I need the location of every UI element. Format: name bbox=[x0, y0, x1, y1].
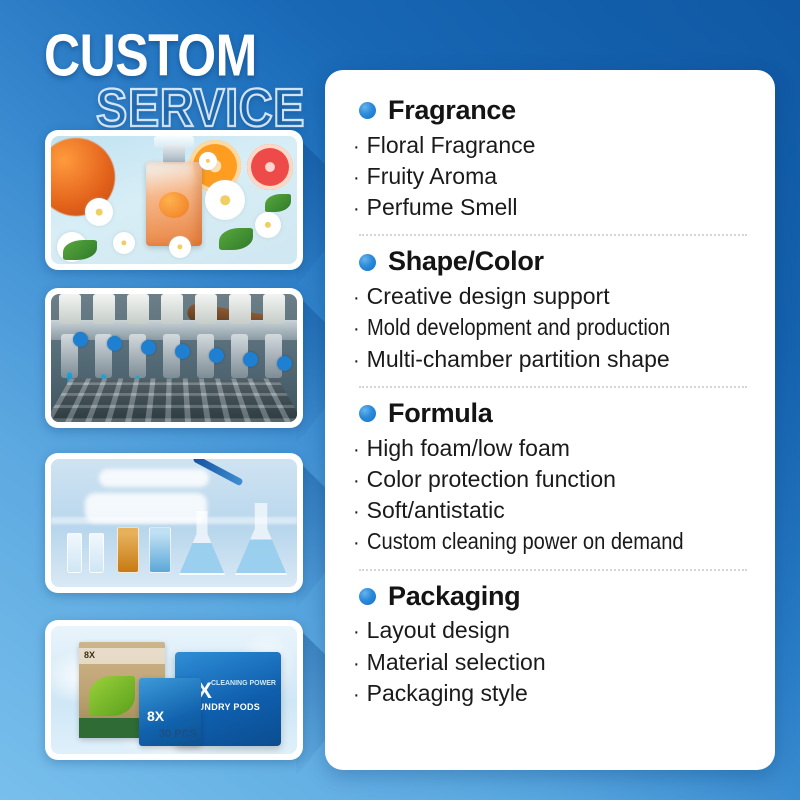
nozzle-indicator-icon bbox=[277, 356, 292, 371]
canister-icon bbox=[127, 294, 149, 324]
vial-icon bbox=[67, 533, 82, 573]
leaf-icon bbox=[265, 194, 291, 212]
laboratory-photo bbox=[51, 459, 297, 587]
nozzle-indicator-icon bbox=[243, 352, 258, 367]
item-label: Color protection function bbox=[367, 464, 616, 495]
thumbnail-production-line[interactable] bbox=[45, 288, 303, 428]
section-header: Formula bbox=[359, 399, 751, 429]
leaf-icon bbox=[89, 676, 135, 716]
item-label: Floral Fragrance bbox=[367, 130, 536, 161]
nozzle-indicator-icon bbox=[209, 348, 224, 363]
nozzle-indicator-icon bbox=[175, 344, 190, 359]
leaf-icon bbox=[219, 228, 253, 250]
section-fragrance: Fragrance ·Floral Fragrance ·Fruity Arom… bbox=[353, 96, 751, 223]
section-header: Shape/Color bbox=[359, 247, 751, 277]
section-item-list: ·Creative design support ·Mold developme… bbox=[353, 281, 751, 375]
list-item: ·Creative design support bbox=[353, 281, 751, 312]
list-item: ·Floral Fragrance bbox=[353, 130, 751, 161]
item-marker: · bbox=[353, 682, 360, 709]
item-marker: · bbox=[353, 530, 360, 557]
jasmine-flower-icon bbox=[113, 232, 135, 254]
bottle-cap bbox=[163, 144, 185, 164]
item-label: Layout design bbox=[367, 615, 510, 646]
item-marker: · bbox=[353, 196, 360, 223]
bullet-dot-icon bbox=[359, 405, 376, 422]
item-marker: · bbox=[353, 651, 360, 678]
list-item: ·Mold development and production bbox=[353, 312, 751, 343]
nozzle-indicator-icon bbox=[73, 332, 88, 347]
list-item: ·Material selection bbox=[353, 647, 751, 678]
item-label: Material selection bbox=[367, 647, 546, 678]
mold-tray bbox=[51, 379, 297, 422]
canister-icon bbox=[161, 294, 183, 324]
fragrance-photo bbox=[51, 136, 297, 264]
erlenmeyer-flask-icon bbox=[235, 503, 287, 575]
bullet-dot-icon bbox=[359, 254, 376, 271]
canister-icon bbox=[195, 294, 217, 324]
section-title: Formula bbox=[388, 399, 492, 429]
item-marker: · bbox=[353, 165, 360, 192]
section-header: Fragrance bbox=[359, 96, 751, 126]
jasmine-flower-icon bbox=[255, 212, 281, 238]
section-item-list: ·Floral Fragrance ·Fruity Aroma ·Perfume… bbox=[353, 130, 751, 224]
item-label: Packaging style bbox=[367, 678, 528, 709]
item-label: Perfume Smell bbox=[367, 192, 518, 223]
item-label: High foam/low foam bbox=[367, 433, 570, 464]
pouch-cleaning-power-label: CLEANING POWER bbox=[211, 680, 276, 687]
thumbnail-laboratory[interactable] bbox=[45, 453, 303, 593]
section-item-list: ·High foam/low foam ·Color protection fu… bbox=[353, 433, 751, 558]
bullet-dot-icon bbox=[359, 102, 376, 119]
item-marker: · bbox=[353, 619, 360, 646]
item-marker: · bbox=[353, 134, 360, 161]
jasmine-flower-icon bbox=[169, 236, 191, 258]
section-divider bbox=[359, 569, 747, 571]
section-divider bbox=[359, 386, 747, 388]
canister-icon bbox=[59, 294, 81, 324]
pouch-small-8x-label: 8X bbox=[147, 708, 164, 724]
list-item: ·Multi-chamber partition shape bbox=[353, 344, 751, 375]
section-title: Fragrance bbox=[388, 96, 516, 126]
item-label: Custom cleaning power on demand bbox=[367, 526, 684, 557]
list-item: ·Color protection function bbox=[353, 464, 751, 495]
bullet-dot-icon bbox=[359, 588, 376, 605]
list-item: ·Fruity Aroma bbox=[353, 161, 751, 192]
grapefruit-slice-icon bbox=[247, 144, 293, 190]
list-item: ·Custom cleaning power on demand bbox=[353, 526, 751, 557]
amber-vial-icon bbox=[117, 527, 139, 573]
service-details-panel: Fragrance ·Floral Fragrance ·Fruity Arom… bbox=[325, 70, 775, 770]
section-formula: Formula ·High foam/low foam ·Color prote… bbox=[353, 399, 751, 558]
item-marker: · bbox=[353, 437, 360, 464]
custom-service-poster: CUSTOM SERVICE bbox=[0, 0, 800, 800]
jasmine-flower-icon bbox=[199, 152, 217, 170]
section-header: Packaging bbox=[359, 582, 751, 612]
item-marker: · bbox=[353, 316, 360, 343]
section-title: Packaging bbox=[388, 582, 520, 612]
item-marker: · bbox=[353, 348, 360, 375]
jasmine-flower-icon bbox=[85, 198, 113, 226]
section-item-list: ·Layout design ·Material selection ·Pack… bbox=[353, 615, 751, 709]
section-title: Shape/Color bbox=[388, 247, 544, 277]
canister-icon bbox=[93, 294, 115, 324]
nozzle-indicator-icon bbox=[107, 336, 122, 351]
thumbnail-fragrance[interactable] bbox=[45, 130, 303, 270]
item-label: Mold development and production bbox=[367, 312, 670, 343]
canister-icon bbox=[229, 294, 251, 324]
list-item: ·Perfume Smell bbox=[353, 192, 751, 223]
item-marker: · bbox=[353, 468, 360, 495]
item-label: Multi-chamber partition shape bbox=[367, 344, 670, 375]
production-line-photo bbox=[51, 294, 297, 422]
bottle-label-fruit bbox=[159, 192, 189, 218]
section-divider bbox=[359, 234, 747, 236]
list-item: ·Packaging style bbox=[353, 678, 751, 709]
leaf-icon bbox=[63, 240, 97, 260]
pack-count-label: 30 PCS bbox=[159, 728, 197, 740]
nozzle-indicator-icon bbox=[141, 340, 156, 355]
item-marker: · bbox=[353, 499, 360, 526]
section-packaging: Packaging ·Layout design ·Material selec… bbox=[353, 582, 751, 709]
item-label: Creative design support bbox=[367, 281, 610, 312]
background-blur-shape bbox=[99, 469, 209, 487]
list-item: ·Layout design bbox=[353, 615, 751, 646]
canister-icon bbox=[263, 294, 285, 324]
list-item: ·High foam/low foam bbox=[353, 433, 751, 464]
pack-8x-label: 8X bbox=[84, 650, 95, 660]
item-label: Soft/antistatic bbox=[367, 495, 505, 526]
nozzle-icon bbox=[265, 334, 282, 378]
packaging-photo: 8X 8X CLEANING POWER LAUNDRY PODS 8X 30 … bbox=[51, 626, 297, 754]
section-shape-color: Shape/Color ·Creative design support ·Mo… bbox=[353, 247, 751, 374]
item-label: Fruity Aroma bbox=[367, 161, 497, 192]
jasmine-flower-icon bbox=[205, 180, 245, 220]
blue-vial-icon bbox=[149, 527, 171, 573]
vial-icon bbox=[89, 533, 104, 573]
list-item: ·Soft/antistatic bbox=[353, 495, 751, 526]
thumbnail-packaging[interactable]: 8X 8X CLEANING POWER LAUNDRY PODS 8X 30 … bbox=[45, 620, 303, 760]
item-marker: · bbox=[353, 285, 360, 312]
poster-title: CUSTOM SERVICE bbox=[44, 18, 344, 118]
title-line-service: SERVICE bbox=[96, 80, 305, 134]
